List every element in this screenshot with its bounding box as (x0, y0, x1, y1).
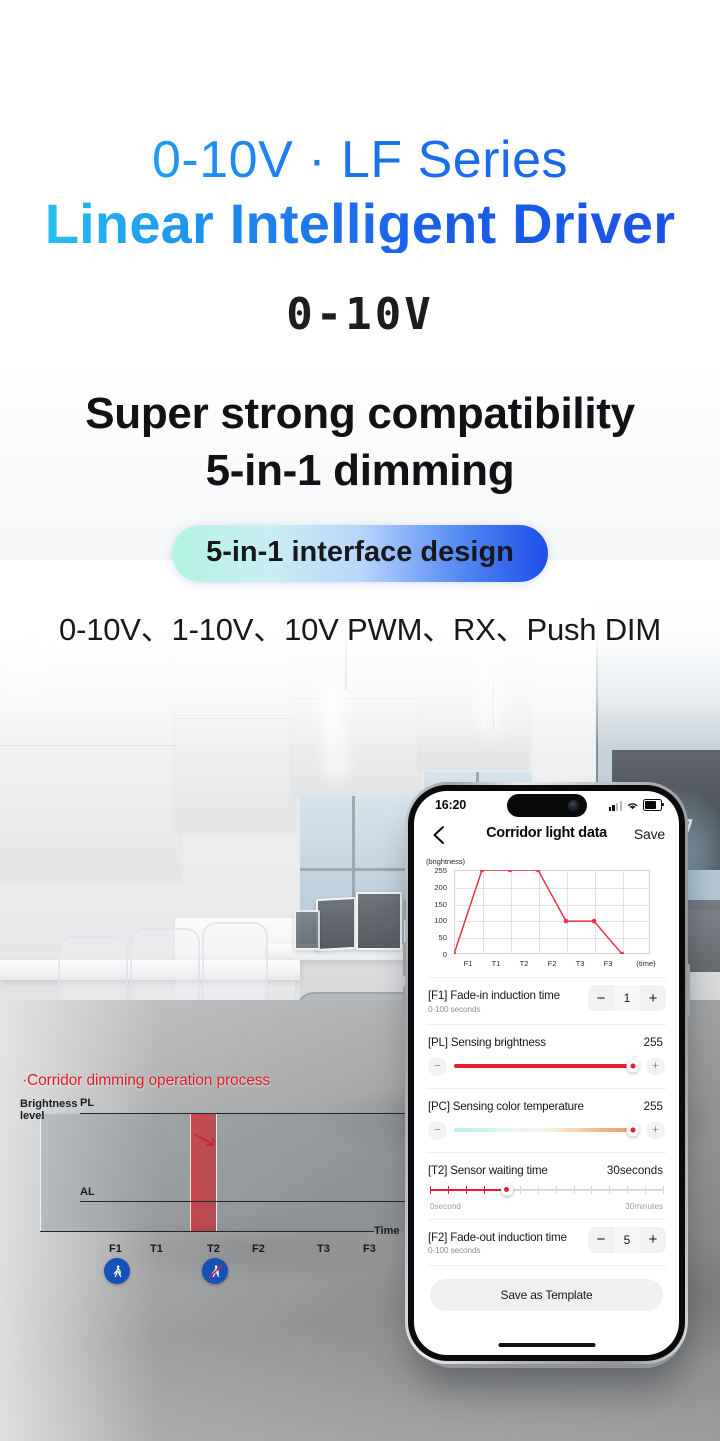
no-pedestrian-icon (202, 1258, 228, 1284)
smartphone-mockup: 16:20 Corri (405, 782, 688, 1364)
decrement-button[interactable]: − (588, 1227, 614, 1253)
diagram-marker-f1: F1 (109, 1243, 122, 1255)
chart-xtick-t1: T1 (482, 959, 510, 968)
setting-value: 255 (644, 1100, 663, 1113)
diagram-level-al-label: AL (80, 1186, 95, 1198)
sensing-brightness-slider-row: − + (414, 1049, 679, 1088)
corridor-dimming-diagram: ·Corridor dimming operation process Brig… (14, 1070, 414, 1300)
hero-title-line2: Linear Intelligent Driver (0, 194, 720, 253)
waiting-time-range-labels: 0second 30minutes (414, 1195, 679, 1211)
brightness-increment-button[interactable]: + (646, 1057, 665, 1076)
diagram-al-line (80, 1201, 414, 1202)
setting-row-sensor-waiting-time: [T2] Sensor waiting time 30seconds (414, 1153, 679, 1177)
waiting-time-track[interactable] (430, 1189, 663, 1191)
chart-y-axis-title: (brightness) (426, 857, 465, 866)
diagram-gridline (216, 1114, 217, 1232)
interface-design-badge: 5-in-1 interface design (172, 525, 548, 582)
chart-ytick-200: 200 (421, 883, 447, 892)
decrement-button[interactable]: − (588, 985, 614, 1011)
chart-ytick-0: 0 (421, 950, 447, 959)
hero-subtitle-line2: 5-in-1 dimming (0, 443, 720, 499)
diagram-x-axis-label: Time (374, 1225, 399, 1237)
app-nav-bar: Corridor light data Save (414, 821, 679, 853)
diagram-band (40, 1114, 190, 1232)
chart-xtick-f3: F3 (594, 959, 622, 968)
hero-section: 0-10V · LF Series Linear Intelligent Dri… (0, 0, 720, 649)
signal-icon (609, 801, 622, 811)
zero-to-ten-volt-logo: 0-10V (0, 289, 720, 340)
window-frame (300, 868, 420, 871)
diagram-level-pl-label: PL (80, 1097, 94, 1109)
waiting-time-min-label: 0second (430, 1202, 461, 1211)
setting-row-fade-in: [F1] Fade-in induction time 0-100 second… (414, 978, 679, 1024)
stepper-value[interactable]: 1 (614, 985, 640, 1011)
status-bar-time: 16:20 (435, 798, 466, 812)
diagram-title: ·Corridor dimming operation process (22, 1072, 270, 1090)
wifi-icon (626, 801, 639, 811)
setting-value: 255 (644, 1036, 663, 1049)
pedestrian-icon (104, 1258, 130, 1284)
chart-series-brightness (454, 870, 650, 954)
hero-subtitle: Super strong compatibility 5-in-1 dimmin… (0, 386, 720, 499)
stepper-value[interactable]: 5 (614, 1227, 640, 1253)
increment-button[interactable]: + (640, 1227, 666, 1253)
cct-decrement-button[interactable]: − (428, 1121, 447, 1140)
setting-label: [PC] Sensing color temperature (428, 1100, 665, 1113)
chart-xtick-f1: F1 (454, 959, 482, 968)
save-as-template-button[interactable]: Save as Template (430, 1279, 663, 1311)
monitor (316, 897, 356, 951)
chart-ytick-50: 50 (421, 933, 447, 942)
brightness-slider-track[interactable] (454, 1064, 639, 1069)
waiting-time-fill (430, 1189, 507, 1191)
setting-label: [PL] Sensing brightness (428, 1036, 665, 1049)
y-axis-label-line1: Brightness (20, 1098, 77, 1110)
brightness-slider-knob[interactable] (627, 1060, 640, 1073)
diagram-marker-t3: T3 (317, 1243, 330, 1255)
waiting-time-max-label: 30minutes (625, 1202, 663, 1211)
protocol-list: 0-10V、1-10V、10V PWM、RX、Push DIM (0, 604, 720, 649)
battery-icon (643, 799, 662, 811)
setting-row-color-temperature: [PC] Sensing color temperature 255 (414, 1089, 679, 1113)
phone-mute-switch[interactable] (403, 900, 406, 920)
chart-xtick-t2: T2 (510, 959, 538, 968)
phone-power-button[interactable] (687, 964, 690, 1016)
dynamic-island (507, 794, 587, 817)
badge-container: 5-in-1 interface design (0, 525, 720, 582)
chart-xtick-t3: T3 (566, 959, 594, 968)
front-camera-icon (568, 800, 580, 812)
setting-value: 30seconds (607, 1164, 663, 1177)
diagram-marker-t1: T1 (150, 1243, 163, 1255)
chart-x-axis-title: (time) (626, 959, 666, 968)
hero-title-line1: 0-10V · LF Series (0, 133, 720, 188)
setting-row-fade-out: [F2] Fade-out induction time 0-100 secon… (414, 1220, 679, 1266)
cct-increment-button[interactable]: + (646, 1121, 665, 1140)
hero-subtitle-line1: Super strong compatibility (0, 386, 720, 442)
divider (427, 1265, 666, 1266)
cct-slider-knob[interactable] (627, 1124, 640, 1137)
cct-slider-track[interactable] (454, 1128, 639, 1133)
chart-ytick-100: 100 (421, 916, 447, 925)
diagram-gridline (40, 1114, 41, 1232)
monitor (294, 910, 320, 950)
phone-volume-down-button[interactable] (403, 986, 406, 1020)
fade-out-stepper[interactable]: − 5 + (588, 1227, 666, 1253)
diagram-band (216, 1114, 414, 1232)
y-axis-label-line2: level (20, 1110, 77, 1122)
status-bar: 16:20 (414, 791, 679, 821)
diagram-pl-line (80, 1113, 414, 1114)
status-bar-indicators (609, 799, 662, 811)
chart-xtick-f2: F2 (538, 959, 566, 968)
color-temperature-slider-row: − + (414, 1113, 679, 1152)
waiting-time-knob[interactable] (501, 1184, 513, 1196)
setting-row-sensing-brightness: [PL] Sensing brightness 255 (414, 1025, 679, 1049)
diagram-y-axis-label: Brightness level (20, 1098, 77, 1123)
diagram-gridline (190, 1114, 191, 1232)
diagram-marker-f3: F3 (363, 1243, 376, 1255)
diagram-time-axis (40, 1231, 374, 1232)
diagram-arrow-icon (192, 1132, 222, 1152)
brightness-decrement-button[interactable]: − (428, 1057, 447, 1076)
brightness-chart: (brightness) (414, 857, 679, 977)
fade-in-stepper[interactable]: − 1 + (588, 985, 666, 1011)
diagram-marker-f2: F2 (252, 1243, 265, 1255)
increment-button[interactable]: + (640, 985, 666, 1011)
home-indicator[interactable] (498, 1343, 595, 1347)
page-root: w 0-10V · LF Series Linear Intelligent D… (0, 0, 720, 1441)
save-button[interactable]: Save (634, 826, 665, 842)
phone-volume-up-button[interactable] (403, 942, 406, 976)
diagram-marker-t2: T2 (207, 1243, 220, 1255)
chart-ytick-255: 255 (421, 866, 447, 875)
phone-screen: 16:20 Corri (414, 791, 679, 1355)
monitor (356, 892, 402, 950)
waiting-time-slider[interactable] (414, 1177, 679, 1195)
chart-ytick-150: 150 (421, 900, 447, 909)
